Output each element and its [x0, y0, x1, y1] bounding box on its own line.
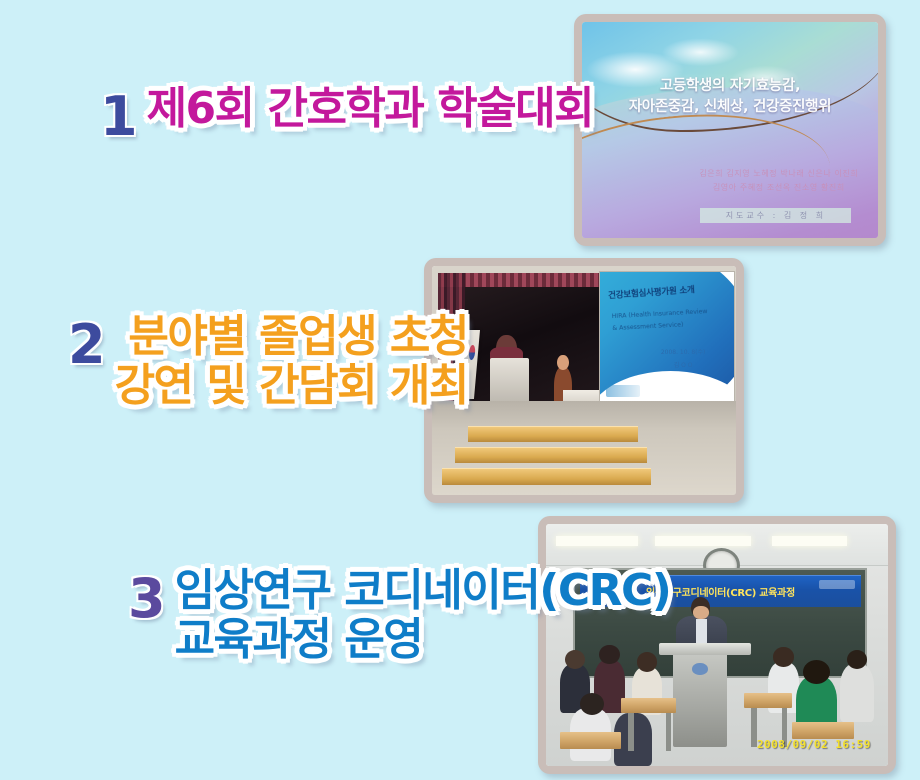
screen-organization-logo [606, 385, 641, 397]
student-desk [621, 698, 676, 713]
slide-author-names: 김은희 김지영 노혜정 박나래 신은나 이진희 김영아 주혜정 조선옥 진소영 … [689, 167, 870, 195]
photo-conference-slide-image: 고등학생의 자기효능감, 자아존중감, 신체상, 건강증진행위 김은희 김지영 … [582, 22, 878, 238]
ceiling-light [772, 536, 847, 546]
desk-leg [628, 713, 633, 752]
auditorium-stage-steps [438, 426, 651, 495]
desk-leg [751, 708, 756, 747]
item-text-3: 임상연구 코디네이터(CRC) 교육과정 운영 [175, 566, 671, 665]
list-item-2: 2 분야별 졸업생 초청 강연 및 간담회 개최 [68, 312, 468, 411]
screen-date-text: 2008. 10. 8(수) 김 O O [640, 346, 726, 372]
photo-conference-slide: 고등학생의 자기효능감, 자아존중감, 신체상, 건강증진행위 김은희 김지영 … [574, 14, 886, 246]
photo-auditorium-lecture: 건강보험심사평가원 소개 HIRA (Health Insurance Revi… [424, 258, 744, 503]
desk-leg [666, 713, 671, 752]
auditorium-projection-screen: 건강보험심사평가원 소개 HIRA (Health Insurance Revi… [599, 271, 735, 404]
slide-advisor-label: 지도교수 : 김 정 희 [700, 208, 851, 223]
student-figure [840, 664, 874, 722]
student-desk [792, 722, 854, 739]
photo-auditorium-image: 건강보험심사평가원 소개 HIRA (Health Insurance Revi… [432, 266, 736, 495]
item-number-3: 3 [128, 572, 165, 626]
student-desk [560, 732, 622, 749]
stage-step [468, 426, 638, 442]
student-desk [744, 693, 792, 708]
list-item-3: 3 임상연구 코디네이터(CRC) 교육과정 운영 [128, 566, 670, 665]
photo-timestamp: 2008/09/02 16:59 [757, 738, 871, 751]
student-head [803, 660, 830, 684]
presentation-slide: 고등학생의 자기효능감, 자아존중감, 신체상, 건강증진행위 김은희 김지영 … [0, 0, 920, 780]
list-item-1: 1 제6회 간호학과 학술대회 [100, 84, 593, 144]
item-text-1: 제6회 간호학과 학술대회 [147, 84, 594, 133]
ceiling-light [655, 536, 751, 546]
instructor-head [691, 597, 710, 619]
item-number-2: 2 [68, 318, 105, 372]
stage-step [442, 468, 651, 485]
slide-title-text: 고등학생의 자기효능감, 자아존중감, 신체상, 건강증진행위 [582, 76, 878, 118]
classroom-podium [673, 650, 728, 747]
classroom-podium-top [659, 643, 751, 655]
banner-logo [819, 580, 855, 589]
item-number-1: 1 [100, 90, 137, 144]
ceiling-light [556, 536, 638, 546]
stage-step [455, 447, 647, 463]
item-text-2: 분야별 졸업생 초청 강연 및 간담회 개최 [115, 312, 468, 411]
student-head [773, 647, 794, 666]
